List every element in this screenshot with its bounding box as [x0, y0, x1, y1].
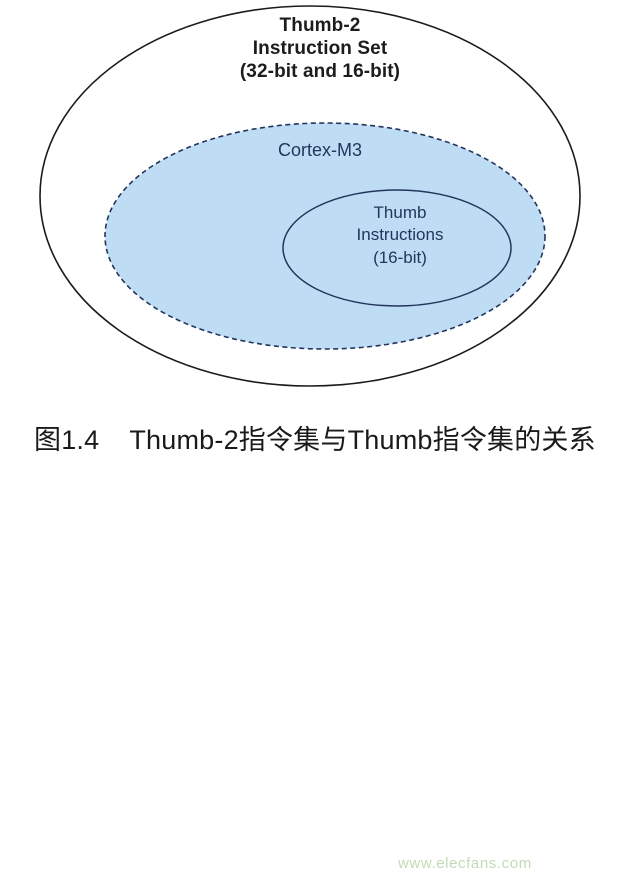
- inner-label-line-3: (16-bit): [315, 247, 485, 269]
- ellipse-label-thumb2: Thumb-2 Instruction Set (32-bit and 16-b…: [190, 14, 450, 84]
- figure-caption-number: 图1.4: [34, 425, 99, 455]
- venn-diagram: Thumb-2 Instruction Set (32-bit and 16-b…: [0, 0, 638, 400]
- figure-caption: 图1.4Thumb-2指令集与Thumb指令集的关系: [34, 418, 596, 457]
- middle-label-line-1: Cortex-M3: [278, 140, 362, 160]
- outer-label-line-1: Thumb-2: [190, 14, 450, 37]
- outer-label-line-2: Instruction Set: [190, 37, 450, 60]
- ellipse-label-thumb-instructions: Thumb Instructions (16-bit): [315, 202, 485, 269]
- ellipse-label-cortex-m3: Cortex-M3: [205, 140, 435, 162]
- inner-label-line-1: Thumb: [315, 202, 485, 224]
- figure-caption-row: 图1.4Thumb-2指令集与Thumb指令集的关系 www.elecfans.…: [0, 412, 638, 472]
- watermark: www.elecfans.com: [398, 855, 532, 872]
- inner-label-line-2: Instructions: [315, 224, 485, 246]
- outer-label-line-3: (32-bit and 16-bit): [190, 60, 450, 83]
- figure-caption-text: Thumb-2指令集与Thumb指令集的关系: [129, 425, 595, 455]
- figure-root: Thumb-2 Instruction Set (32-bit and 16-b…: [0, 0, 638, 472]
